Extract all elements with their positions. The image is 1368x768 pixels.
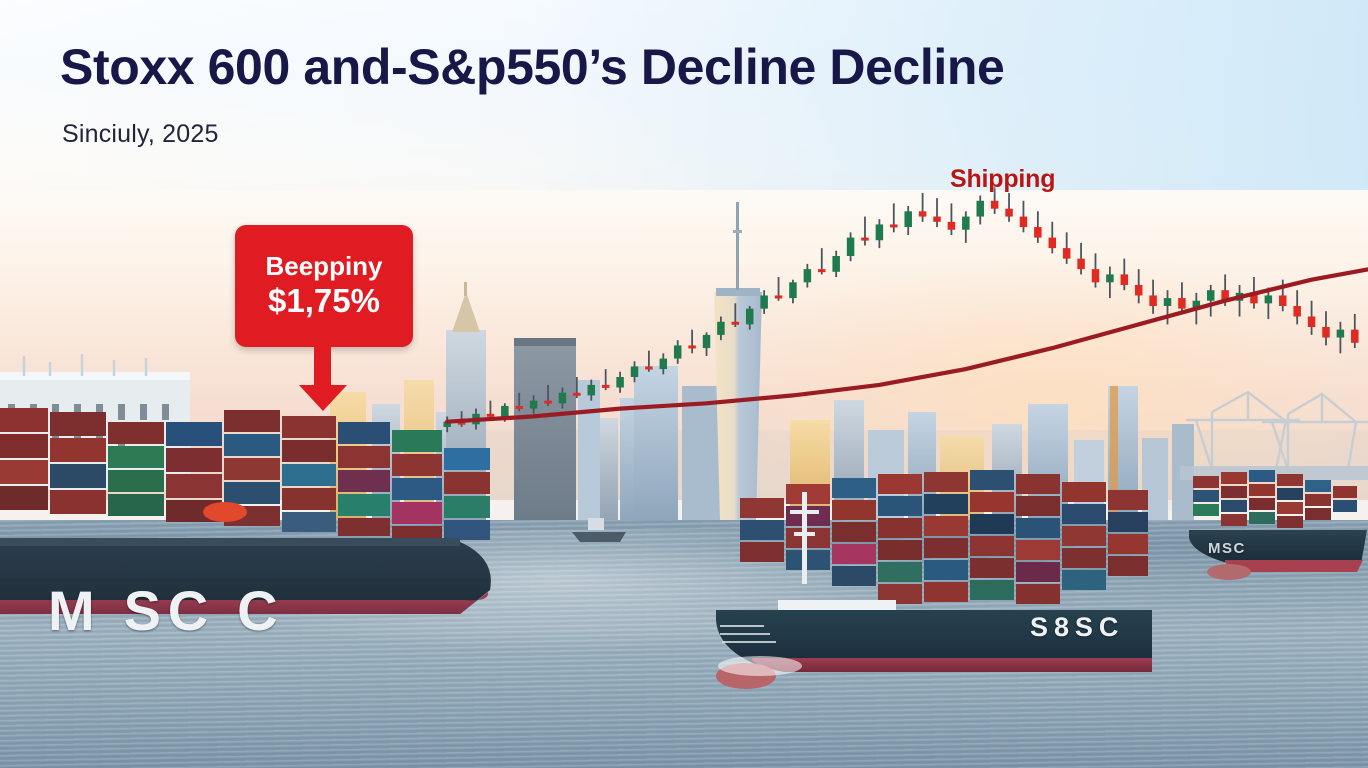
callout-stem [314,345,331,388]
trend-line-rising [447,247,1368,422]
page-subtitle: Sinciuly, 2025 [62,120,219,149]
poster-canvas: M SC C [0,0,1368,768]
ship-center-hull-text: S8SC [1030,612,1124,643]
price-callout-badge[interactable]: Beeppiny $1,75% [235,225,413,347]
shipping-annotation-label: Shipping [950,165,1055,194]
callout-arrow-icon [299,385,347,411]
ship-left-hull-text: M SC C [48,578,284,643]
tugboat [568,512,632,546]
page-title: Stoxx 600 and-S&p550’s Decline Decline [60,38,1004,96]
callout-label: Beeppiny [265,252,382,281]
callout-value: $1,75% [268,283,380,320]
ship-center [700,470,1160,730]
candle-series [443,185,1358,432]
ship-right [1185,468,1368,598]
ship-right-hull-text: MSC [1208,540,1246,557]
